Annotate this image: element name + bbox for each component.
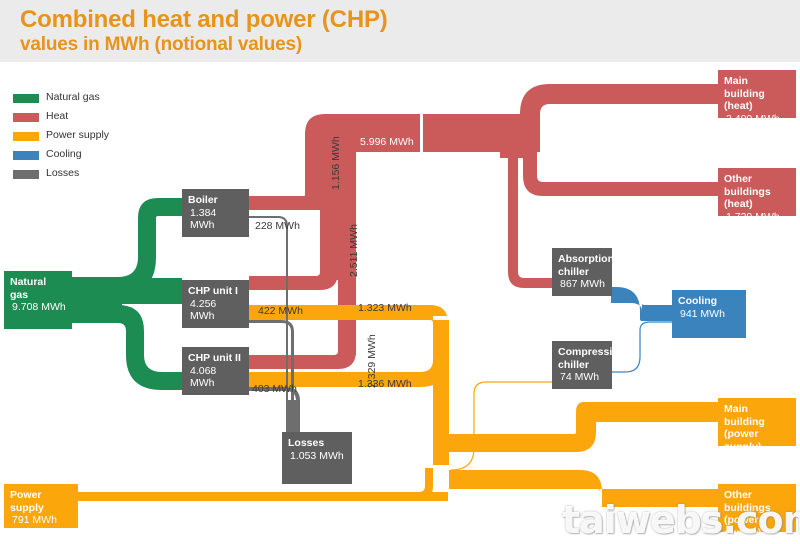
node-losses-name: Losses xyxy=(288,437,346,450)
node-main-building-heat-name-l2: (heat) xyxy=(724,100,790,113)
node-losses-value: 1.053 MWh xyxy=(288,450,346,463)
node-natural-gas[interactable]: Natural gas 9.708 MWh xyxy=(4,271,72,329)
node-chp-unit-2-name: CHP unit II xyxy=(188,352,243,365)
node-losses[interactable]: Losses 1.053 MWh xyxy=(282,432,352,484)
node-cooling-name: Cooling xyxy=(678,295,740,308)
node-boiler-value: 1.384 MWh xyxy=(188,207,243,232)
node-other-buildings-power[interactable]: Other buildings (power supply) xyxy=(718,484,796,532)
node-chp-unit-2[interactable]: CHP unit II 4.068 MWh xyxy=(182,347,249,395)
node-main-building-power-name-l2: (power supply) xyxy=(724,428,790,446)
flow-label-boiler-heat: 1.156 MWh xyxy=(330,136,342,190)
losses-flow-group xyxy=(249,216,300,432)
node-other-buildings-heat[interactable]: Other buildings (heat) 1.729 MWh xyxy=(718,168,796,216)
node-compression-chiller-name-l1: Compression xyxy=(558,346,606,359)
node-other-buildings-power-name-l2: (power supply) xyxy=(724,514,790,532)
node-other-buildings-heat-name-l2: (heat) xyxy=(724,198,790,211)
node-chp-unit-1-value: 4.256 MWh xyxy=(188,298,243,323)
flow-label-chp2-power: 1.336 MWh xyxy=(358,378,412,390)
node-main-building-heat-value: 3.400 MWh xyxy=(724,113,790,119)
node-main-building-heat[interactable]: Main building (heat) 3.400 MWh xyxy=(718,70,796,118)
node-other-buildings-power-name-l1: Other buildings xyxy=(724,489,790,514)
link-natural-gas-trunk xyxy=(72,277,122,323)
flow-label-boiler-losses: 228 MWh xyxy=(255,220,300,232)
heat-flow-group xyxy=(305,84,718,288)
node-main-building-heat-name-l1: Main building xyxy=(724,75,790,100)
node-absorption-chiller-name-l1: Absorption xyxy=(558,253,606,266)
node-absorption-chiller-value: 867 MWh xyxy=(558,278,606,291)
node-chp-unit-2-value: 4.068 MWh xyxy=(188,365,243,390)
node-compression-chiller-name-l2: chiller xyxy=(558,359,606,372)
flow-label-chp1-losses: 422 MWh xyxy=(258,305,303,317)
node-boiler[interactable]: Boiler 1.384 MWh xyxy=(182,189,249,237)
node-chp-unit-1[interactable]: CHP unit I 4.256 MWh xyxy=(182,280,249,328)
node-power-supply-name: Power supply xyxy=(10,489,72,514)
node-other-buildings-heat-name-l1: Other buildings xyxy=(724,173,790,198)
link-boiler-heat-stub xyxy=(249,196,305,210)
node-cooling[interactable]: Cooling 941 MWh xyxy=(672,290,746,338)
node-main-building-power[interactable]: Main building (power supply) 2.400 MWh xyxy=(718,398,796,446)
node-compression-chiller[interactable]: Compression chiller 74 MWh xyxy=(552,341,612,389)
flow-label-chp1-heat: 2.511 MWh xyxy=(348,224,360,277)
sankey-diagram: Combined heat and power (CHP) values in … xyxy=(0,0,800,544)
power-flow-group xyxy=(78,305,718,507)
node-other-buildings-heat-value: 1.729 MWh xyxy=(724,211,790,217)
node-chp-unit-1-name: CHP unit I xyxy=(188,285,243,298)
node-cooling-value: 941 MWh xyxy=(678,308,740,321)
sankey-links-layer xyxy=(0,0,800,544)
cooling-flow-group xyxy=(611,285,672,372)
node-power-supply[interactable]: Power supply 791 MWh xyxy=(4,484,78,528)
node-natural-gas-value: 9.708 MWh xyxy=(10,301,66,314)
flow-label-chp2-losses: 403 MWh xyxy=(252,383,297,395)
node-power-supply-value: 791 MWh xyxy=(10,514,72,527)
node-natural-gas-name: Natural gas xyxy=(10,276,66,301)
node-absorption-chiller-name-l2: chiller xyxy=(558,266,606,279)
flow-label-chp1-power: 1.323 MWh xyxy=(358,302,412,314)
node-boiler-name: Boiler xyxy=(188,194,243,207)
node-compression-chiller-value: 74 MWh xyxy=(558,371,606,384)
node-absorption-chiller[interactable]: Absorption chiller 867 MWh xyxy=(552,248,612,296)
node-main-building-power-name-l1: Main building xyxy=(724,403,790,428)
flow-label-heat-total: 5.996 MWh xyxy=(360,136,414,148)
